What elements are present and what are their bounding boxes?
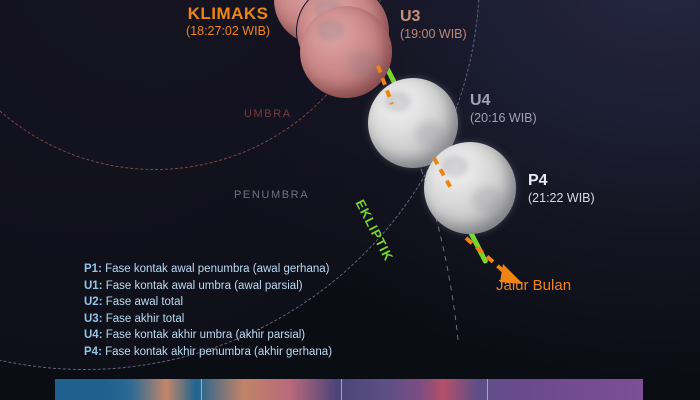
umbra-label: UMBRA: [244, 108, 292, 120]
map-divider: [201, 379, 202, 400]
phase-label-u4: U4 (20:16 WIB): [470, 92, 537, 126]
moon-crater-texture: [424, 142, 516, 234]
legend-key: P1:: [84, 263, 102, 275]
legend-key: U2:: [84, 296, 103, 308]
phase-name: P4: [528, 172, 595, 191]
moon-u3: [300, 6, 392, 98]
legend-key: U4:: [84, 329, 103, 341]
legend-text: Fase awal total: [103, 296, 184, 308]
legend-item: U1: Fase kontak awal umbra (awal parsial…: [84, 278, 332, 295]
phase-time: (19:00 WIB): [400, 27, 467, 42]
legend-text: Fase kontak awal penumbra (awal gerhana): [102, 263, 330, 275]
phase-legend: P1: Fase kontak awal penumbra (awal gerh…: [84, 261, 332, 361]
phase-time: (21:22 WIB): [528, 191, 595, 206]
legend-key: P4:: [84, 346, 102, 358]
phase-time: (20:16 WIB): [470, 111, 537, 126]
phase-label-p4: P4 (21:22 WIB): [528, 172, 595, 206]
legend-item: P1: Fase kontak awal penumbra (awal gerh…: [84, 261, 332, 278]
legend-item: U2: Fase awal total: [84, 294, 332, 311]
moon-p4: [424, 142, 516, 234]
phase-label-u3: U3 (19:00 WIB): [400, 8, 467, 42]
legend-item: P4: Fase kontak akhir penumbra (akhir ge…: [84, 344, 332, 361]
legend-text: Fase kontak awal umbra (awal parsial): [103, 280, 303, 292]
lunar-eclipse-infographic: UMBRA PENUMBRA EKLIPTIK KLIMAKS (18:27:0…: [0, 0, 700, 400]
penumbra-label: PENUMBRA: [234, 189, 309, 201]
legend-key: U1:: [84, 280, 103, 292]
phase-name: U3: [400, 8, 467, 27]
phase-name: U4: [470, 92, 537, 111]
moon-path-label: Jalur Bulan: [496, 277, 571, 294]
legend-item: U3: Fase akhir total: [84, 311, 332, 328]
legend-text: Fase kontak akhir umbra (akhir parsial): [103, 329, 306, 341]
phase-label-klimaks: KLIMAKS (18:27:02 WIB): [186, 4, 270, 39]
legend-item: U4: Fase kontak akhir umbra (akhir parsi…: [84, 327, 332, 344]
legend-text: Fase akhir total: [103, 313, 185, 325]
visibility-map-strip: [55, 379, 643, 400]
moon-crater-texture: [300, 6, 392, 98]
map-divider: [487, 379, 488, 400]
legend-text: Fase kontak akhir penumbra (akhir gerhan…: [102, 346, 332, 358]
map-divider: [341, 379, 342, 400]
legend-key: U3:: [84, 313, 103, 325]
phase-time: (18:27:02 WIB): [186, 24, 270, 39]
phase-name: KLIMAKS: [186, 4, 270, 24]
